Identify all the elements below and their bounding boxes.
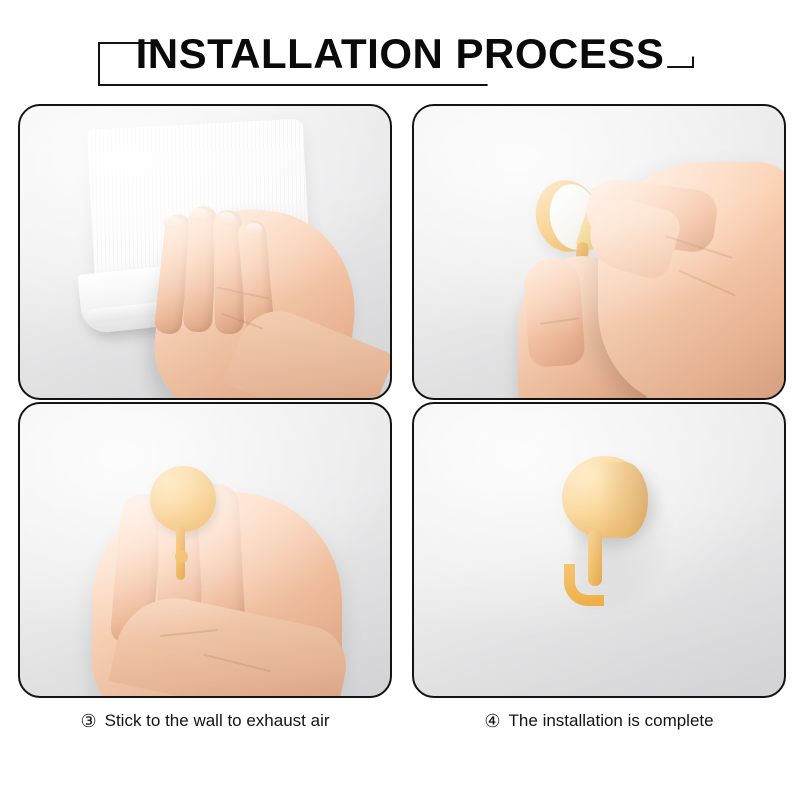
steps-grid: ① clean the wall ② Peel off the adhesive… xyxy=(18,104,786,784)
step-4: ④ The installation is complete xyxy=(412,402,786,700)
step-2: ② Peel off the adhesive backing protecti… xyxy=(412,104,786,402)
step-4-number: ④ xyxy=(484,712,500,730)
yellow-hook-cap xyxy=(150,466,216,532)
step-1: ① clean the wall xyxy=(18,104,392,402)
step-3: ③ Stick to the wall to exhaust air xyxy=(18,402,392,700)
hook-cap-side xyxy=(600,462,648,538)
step-3-photo xyxy=(18,402,392,698)
page-header: INSTALLATION PROCESS xyxy=(0,18,800,90)
step-3-number: ③ xyxy=(80,712,96,730)
fingernail xyxy=(218,212,235,225)
title-frame: INSTALLATION PROCESS xyxy=(126,28,675,80)
step-4-caption: ④ The installation is complete xyxy=(412,698,786,744)
hook-curve xyxy=(564,564,604,606)
step-1-photo xyxy=(18,104,392,400)
hook-tip xyxy=(175,550,188,563)
page-title: INSTALLATION PROCESS xyxy=(132,28,669,80)
step-4-photo xyxy=(412,402,786,698)
step-3-caption: ③ Stick to the wall to exhaust air xyxy=(18,698,392,744)
step-2-photo xyxy=(412,104,786,400)
step-3-label: Stick to the wall to exhaust air xyxy=(105,711,330,731)
step-4-label: The installation is complete xyxy=(509,711,714,731)
left-thumb xyxy=(522,256,585,368)
